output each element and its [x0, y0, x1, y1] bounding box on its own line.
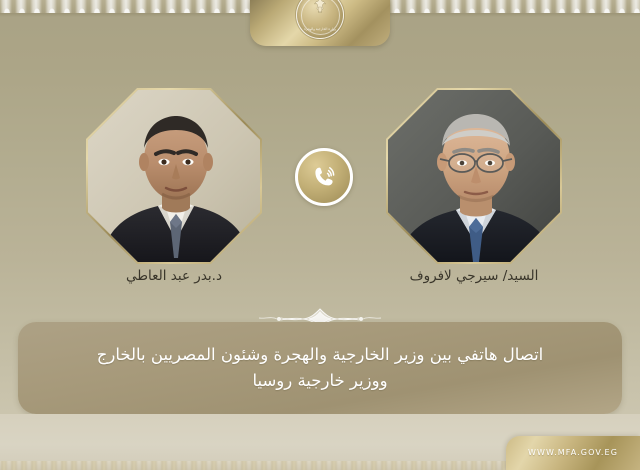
- caption-left: د.بدر عبد العاطي: [44, 268, 304, 284]
- ministry-emblem-seal: وزارة الخارجية والهجرة: [296, 0, 344, 39]
- headline-line-1: اتصال هاتفي بين وزير الخارجية والهجرة وش…: [97, 345, 544, 364]
- phone-handset-icon: [310, 163, 338, 191]
- headline-text: اتصال هاتفي بين وزير الخارجية والهجرة وش…: [63, 342, 578, 395]
- social-card: وزارة الخارجية والهجرة: [0, 0, 640, 470]
- octagon-inner-right: [388, 90, 560, 262]
- portrait-frame-right: [386, 88, 562, 264]
- portrait-photo-right: [388, 90, 560, 262]
- octagon-inner-left: [88, 90, 260, 262]
- website-url-text: WWW.MFA.GOV.EG: [528, 448, 618, 457]
- headline-banner: اتصال هاتفي بين وزير الخارجية والهجرة وش…: [18, 322, 622, 414]
- emblem-seal-text: وزارة الخارجية والهجرة: [297, 27, 343, 31]
- caption-right: السيد/ سيرجي لافروف: [344, 268, 604, 284]
- portrait-frame-left: [86, 88, 262, 264]
- eagle-of-saladin-icon: [314, 0, 327, 14]
- headline-line-2: ووزير خارجية روسيا: [252, 371, 387, 390]
- header-gold-tab: وزارة الخارجية والهجرة: [250, 0, 390, 46]
- phone-call-icon: [295, 148, 353, 206]
- website-tab[interactable]: WWW.MFA.GOV.EG: [506, 436, 640, 470]
- portrait-photo-left: [88, 90, 260, 262]
